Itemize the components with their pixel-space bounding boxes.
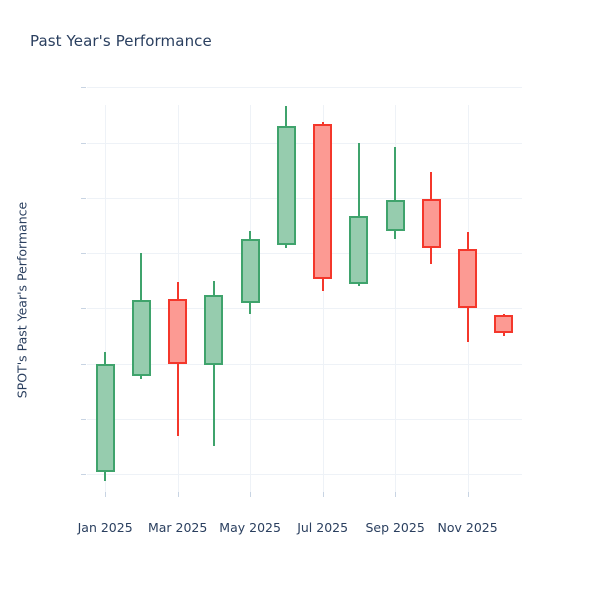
x-tick-mark: [468, 492, 469, 497]
y-tick-mark: [81, 143, 86, 144]
x-tick-label: May 2025: [219, 520, 281, 535]
x-tick-mark: [250, 492, 251, 497]
candlestick-up[interactable]: [132, 105, 151, 492]
candlestick-down[interactable]: [494, 105, 513, 492]
candlestick-body: [313, 124, 332, 279]
candlestick-body: [386, 200, 405, 231]
candlestick-chart: Past Year's Performance SPOT's Past Year…: [0, 0, 600, 600]
x-tick-label: Sep 2025: [365, 520, 424, 535]
x-tick-label: Jul 2025: [297, 520, 348, 535]
y-tick-mark: [81, 198, 86, 199]
candlestick-body: [241, 239, 260, 303]
x-tick-mark: [395, 492, 396, 497]
candlestick-body: [494, 315, 513, 333]
x-tick-mark: [323, 492, 324, 497]
y-gridline: [87, 143, 522, 144]
y-tick-mark: [81, 364, 86, 365]
x-tick-label: Jan 2025: [78, 520, 133, 535]
candlestick-body: [422, 199, 441, 248]
candlestick-up[interactable]: [241, 105, 260, 492]
y-gridline: [87, 419, 522, 420]
y-gridline: [87, 87, 522, 88]
candlestick-up[interactable]: [277, 105, 296, 492]
plot-area: [87, 105, 522, 492]
y-gridline: [87, 308, 522, 309]
y-tick-mark: [81, 474, 86, 475]
y-gridline: [87, 364, 522, 365]
candlestick-body: [204, 295, 223, 365]
candlestick-body: [168, 299, 187, 364]
x-tick-label: Mar 2025: [148, 520, 207, 535]
candlestick-up[interactable]: [96, 105, 115, 492]
y-tick-mark: [81, 419, 86, 420]
candlestick-up[interactable]: [386, 105, 405, 492]
candlestick-down[interactable]: [313, 105, 332, 492]
candlestick-body: [458, 249, 477, 309]
y-tick-mark: [81, 253, 86, 254]
candlestick-body: [277, 126, 296, 245]
candlestick-down[interactable]: [422, 105, 441, 492]
candlestick-down[interactable]: [458, 105, 477, 492]
y-axis-title: SPOT's Past Year's Performance: [15, 150, 30, 450]
candlestick-body: [132, 300, 151, 376]
candlestick-up[interactable]: [349, 105, 368, 492]
x-tick-label: Nov 2025: [438, 520, 498, 535]
y-gridline: [87, 253, 522, 254]
candlestick-body: [349, 216, 368, 285]
candlestick-body: [96, 364, 115, 472]
candlestick-up[interactable]: [204, 105, 223, 492]
chart-title: Past Year's Performance: [30, 32, 212, 50]
y-tick-mark: [81, 308, 86, 309]
candlestick-down[interactable]: [168, 105, 187, 492]
y-gridline: [87, 198, 522, 199]
y-gridline: [87, 474, 522, 475]
y-tick-mark: [81, 87, 86, 88]
x-tick-mark: [105, 492, 106, 497]
x-tick-mark: [178, 492, 179, 497]
